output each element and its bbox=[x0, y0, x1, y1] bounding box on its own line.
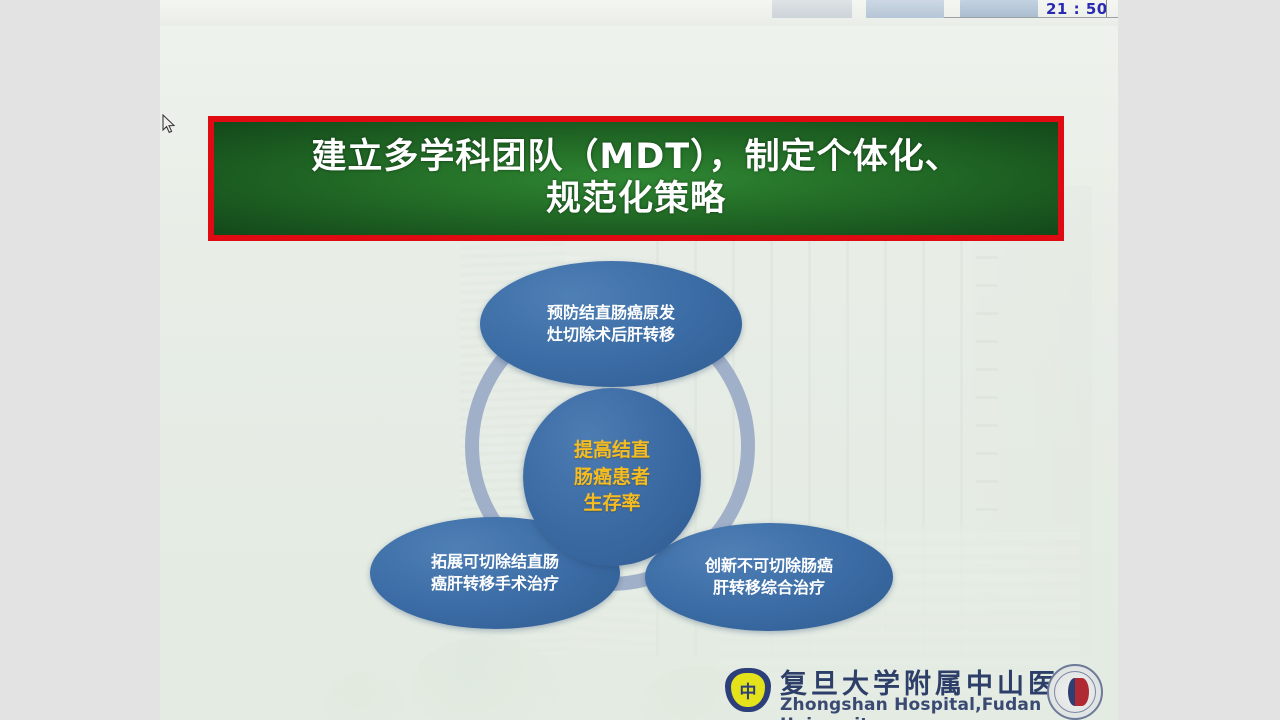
slide-title-line-1: 建立多学科团队（MDT），制定个体化、 bbox=[311, 137, 960, 178]
diagram-bubble-top[interactable]: 预防结直肠癌原发 灶切除术后肝转移 bbox=[480, 261, 742, 387]
toolbar-button-1[interactable] bbox=[772, 0, 852, 18]
slide-title-banner: 建立多学科团队（MDT），制定个体化、 规范化策略 bbox=[208, 116, 1064, 241]
timer-caret bbox=[1106, 0, 1107, 17]
timer-display: 21 : 50 bbox=[1046, 0, 1108, 18]
bubble-bl-line-1: 拓展可切除结直肠 bbox=[431, 551, 559, 573]
shield-glyph: 中 bbox=[740, 678, 757, 703]
presentation-slide: 建立多学科团队（MDT），制定个体化、 规范化策略 预防结直肠癌原发 灶切除术后… bbox=[160, 26, 1118, 720]
application-toolbar: 21 : 50 bbox=[160, 0, 1118, 26]
toolbar-underline bbox=[944, 17, 1118, 18]
bubble-top-line-1: 预防结直肠癌原发 bbox=[547, 302, 675, 324]
mouse-cursor-icon bbox=[162, 114, 176, 134]
bubble-br-line-2: 肝转移综合治疗 bbox=[713, 577, 825, 599]
toolbar-button-3[interactable] bbox=[960, 0, 1038, 18]
center-line-2: 肠癌患者 bbox=[574, 464, 650, 491]
hospital-shield-icon: 中 bbox=[725, 668, 771, 712]
bubble-top-line-2: 灶切除术后肝转移 bbox=[547, 324, 675, 346]
toolbar-button-2[interactable] bbox=[866, 0, 944, 18]
diagram-bubble-bottom-right[interactable]: 创新不可切除肠癌 肝转移综合治疗 bbox=[645, 523, 893, 631]
strategy-diagram: 预防结直肠癌原发 灶切除术后肝转移 拓展可切除结直肠 癌肝转移手术治疗 创新不可… bbox=[360, 241, 860, 641]
center-line-1: 提高结直 bbox=[574, 437, 650, 464]
slide-title-line-2: 规范化策略 bbox=[546, 179, 726, 220]
screen: 21 : 50 bbox=[0, 0, 1280, 720]
center-line-3: 生存率 bbox=[583, 490, 640, 517]
university-seal-icon bbox=[1047, 664, 1103, 720]
bubble-br-line-1: 创新不可切除肠癌 bbox=[705, 555, 833, 577]
bubble-bl-line-2: 癌肝转移手术治疗 bbox=[431, 573, 559, 595]
hospital-logo: 中 复旦大学附属中山医院 Zhongshan Hospital,Fudan Un… bbox=[725, 662, 1095, 720]
diagram-center-circle[interactable]: 提高结直 肠癌患者 生存率 bbox=[523, 388, 701, 566]
